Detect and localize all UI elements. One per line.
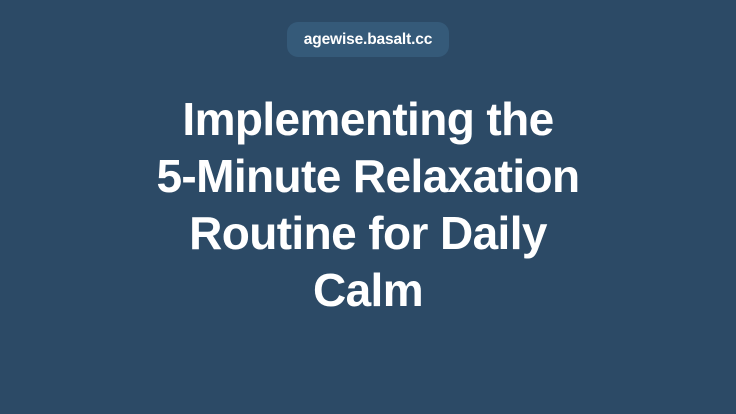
title-line-4: Calm: [133, 262, 603, 319]
title-line-1: Implementing the: [133, 91, 603, 148]
title-line-3: Routine for Daily: [133, 205, 603, 262]
title-card-slide: agewise.basalt.cc Implementing the 5-Min…: [0, 0, 736, 414]
domain-badge: agewise.basalt.cc: [287, 22, 449, 57]
badge-row: agewise.basalt.cc: [0, 22, 736, 57]
page-title: Implementing the 5-Minute Relaxation Rou…: [133, 91, 603, 319]
domain-badge-label: agewise.basalt.cc: [304, 32, 432, 48]
title-line-2: 5-Minute Relaxation: [133, 148, 603, 205]
